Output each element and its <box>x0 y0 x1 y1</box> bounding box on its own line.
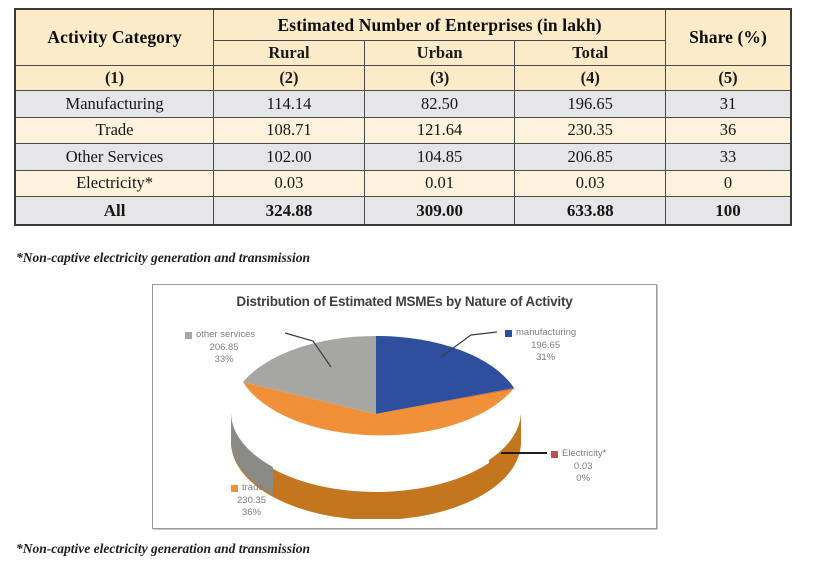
data-label-value: 206.85 <box>185 342 255 355</box>
cell-rural: 108.71 <box>214 117 365 144</box>
cell-category: Other Services <box>15 144 214 171</box>
data-label-name: other services <box>196 329 255 342</box>
data-label-electricity: Electricity* 0.03 0% <box>551 448 606 486</box>
data-label-name: trade <box>242 482 264 495</box>
col-number-2: (2) <box>214 66 365 91</box>
cell-total: 0.03 <box>515 170 666 197</box>
table-row: Electricity* 0.03 0.01 0.03 0 <box>15 170 791 197</box>
col-number-3: (3) <box>364 66 515 91</box>
cell-category: Electricity* <box>15 170 214 197</box>
cell-total-total: 633.88 <box>515 197 666 226</box>
footnote-above-chart: *Non-captive electricity generation and … <box>16 250 310 266</box>
legend-swatch-manufacturing-icon <box>505 330 512 337</box>
data-label-percent: 0% <box>551 473 606 486</box>
cell-category: Trade <box>15 117 214 144</box>
data-label-percent: 33% <box>185 354 255 367</box>
cell-total: 206.85 <box>515 144 666 171</box>
cell-category: Manufacturing <box>15 91 214 118</box>
msme-table-container: Activity Category Estimated Number of En… <box>14 8 792 226</box>
leader-lines <box>153 285 658 530</box>
data-label-trade: trade 230.35 36% <box>231 482 266 520</box>
legend-swatch-electricity-icon <box>551 451 558 458</box>
cell-total: 230.35 <box>515 117 666 144</box>
cell-urban: 82.50 <box>364 91 515 118</box>
table-body: Manufacturing 114.14 82.50 196.65 31 Tra… <box>15 91 791 226</box>
header-share-percent: Share (%) <box>666 9 791 66</box>
leader-line-other-services <box>285 333 331 367</box>
table-column-number-row: (1) (2) (3) (4) (5) <box>15 66 791 91</box>
cell-urban: 104.85 <box>364 144 515 171</box>
header-urban: Urban <box>364 41 515 66</box>
table-header-row-1: Activity Category Estimated Number of En… <box>15 9 791 41</box>
pie-chart-container: Distribution of Estimated MSMEs by Natur… <box>152 284 657 529</box>
cell-rural: 0.03 <box>214 170 365 197</box>
data-label-percent: 31% <box>505 352 576 365</box>
cell-rural-total: 324.88 <box>214 197 365 226</box>
cell-share: 33 <box>666 144 791 171</box>
table-total-row: All 324.88 309.00 633.88 100 <box>15 197 791 226</box>
cell-share: 0 <box>666 170 791 197</box>
cell-urban-total: 309.00 <box>364 197 515 226</box>
cell-urban: 121.64 <box>364 117 515 144</box>
cell-share: 31 <box>666 91 791 118</box>
cell-share: 36 <box>666 117 791 144</box>
table-row: Manufacturing 114.14 82.50 196.65 31 <box>15 91 791 118</box>
leader-line-manufacturing <box>441 332 497 357</box>
data-label-percent: 36% <box>231 507 266 520</box>
header-rural: Rural <box>214 41 365 66</box>
col-number-1: (1) <box>15 66 214 91</box>
col-number-4: (4) <box>515 66 666 91</box>
data-label-value: 230.35 <box>231 495 266 508</box>
data-label-value: 0.03 <box>551 461 606 474</box>
data-label-name: manufacturing <box>516 327 576 340</box>
header-group-estimated-enterprises: Estimated Number of Enterprises (in lakh… <box>214 9 666 41</box>
cell-total: 196.65 <box>515 91 666 118</box>
cell-share-total: 100 <box>666 197 791 226</box>
data-label-manufacturing: manufacturing 196.65 31% <box>505 327 576 365</box>
table-row: Other Services 102.00 104.85 206.85 33 <box>15 144 791 171</box>
data-label-name: Electricity* <box>562 448 606 461</box>
msme-enterprises-table: Activity Category Estimated Number of En… <box>14 8 792 226</box>
cell-urban: 0.01 <box>364 170 515 197</box>
table-row: Trade 108.71 121.64 230.35 36 <box>15 117 791 144</box>
data-label-value: 196.65 <box>505 340 576 353</box>
legend-swatch-other-services-icon <box>185 332 192 339</box>
cell-category-total: All <box>15 197 214 226</box>
footnote-below-chart: *Non-captive electricity generation and … <box>16 541 310 557</box>
legend-swatch-trade-icon <box>231 485 238 492</box>
header-total: Total <box>515 41 666 66</box>
cell-rural: 102.00 <box>214 144 365 171</box>
cell-rural: 114.14 <box>214 91 365 118</box>
table-head: Activity Category Estimated Number of En… <box>15 9 791 91</box>
data-label-other-services: other services 206.85 33% <box>185 329 255 367</box>
col-number-5: (5) <box>666 66 791 91</box>
header-activity-category: Activity Category <box>15 9 214 66</box>
